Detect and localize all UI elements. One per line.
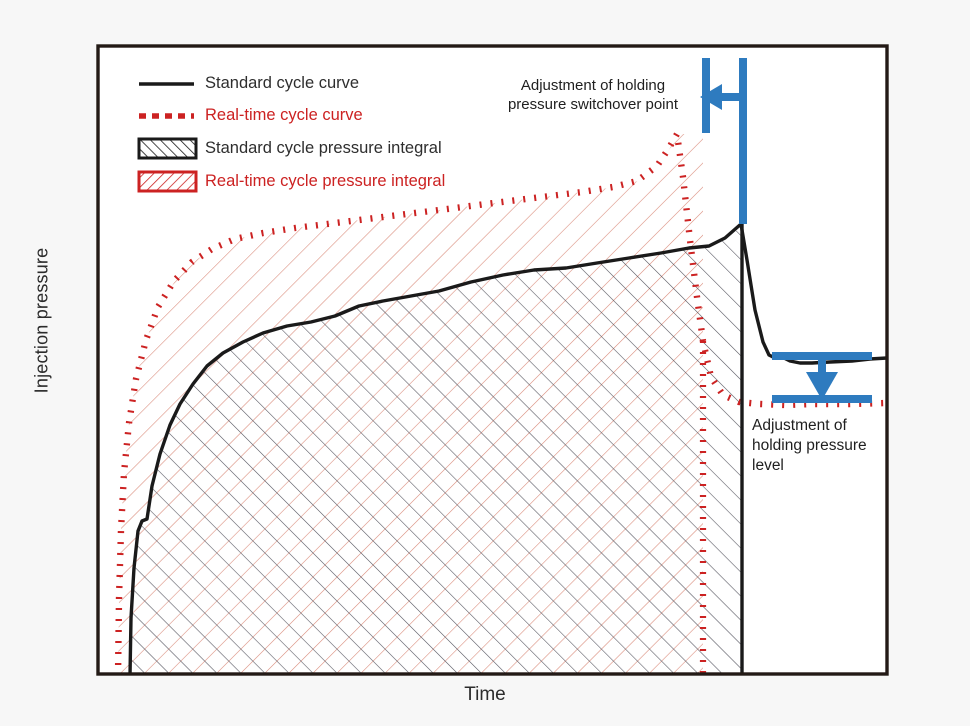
legend-label-realtime-curve: Real-time cycle curve [205, 106, 363, 125]
annotation-level-line2: holding pressure [752, 436, 880, 456]
legend-label-standard-integral: Standard cycle pressure integral [205, 139, 442, 158]
chart-canvas: Standard cycle curve Real-time cycle cur… [0, 0, 970, 726]
injection-pressure-chart [0, 0, 970, 726]
annotation-level: Adjustment of holding pressure level [752, 416, 880, 475]
legend-swatch-standard-integral [139, 139, 196, 158]
y-axis-label: Injection pressure [32, 221, 53, 421]
legend-label-standard-curve: Standard cycle curve [205, 74, 359, 93]
annotation-level-line1: Adjustment of [752, 416, 880, 436]
legend-label-realtime-integral: Real-time cycle pressure integral [205, 172, 445, 191]
annotation-level-line3: level [752, 456, 880, 476]
x-axis-label: Time [0, 684, 970, 706]
annotation-switchover: Adjustment of holding pressure switchove… [493, 76, 693, 114]
annotation-switchover-line1: Adjustment of holding [493, 76, 693, 95]
legend-swatch-realtime-integral [139, 172, 196, 191]
annotation-switchover-line2: pressure switchover point [493, 95, 693, 114]
